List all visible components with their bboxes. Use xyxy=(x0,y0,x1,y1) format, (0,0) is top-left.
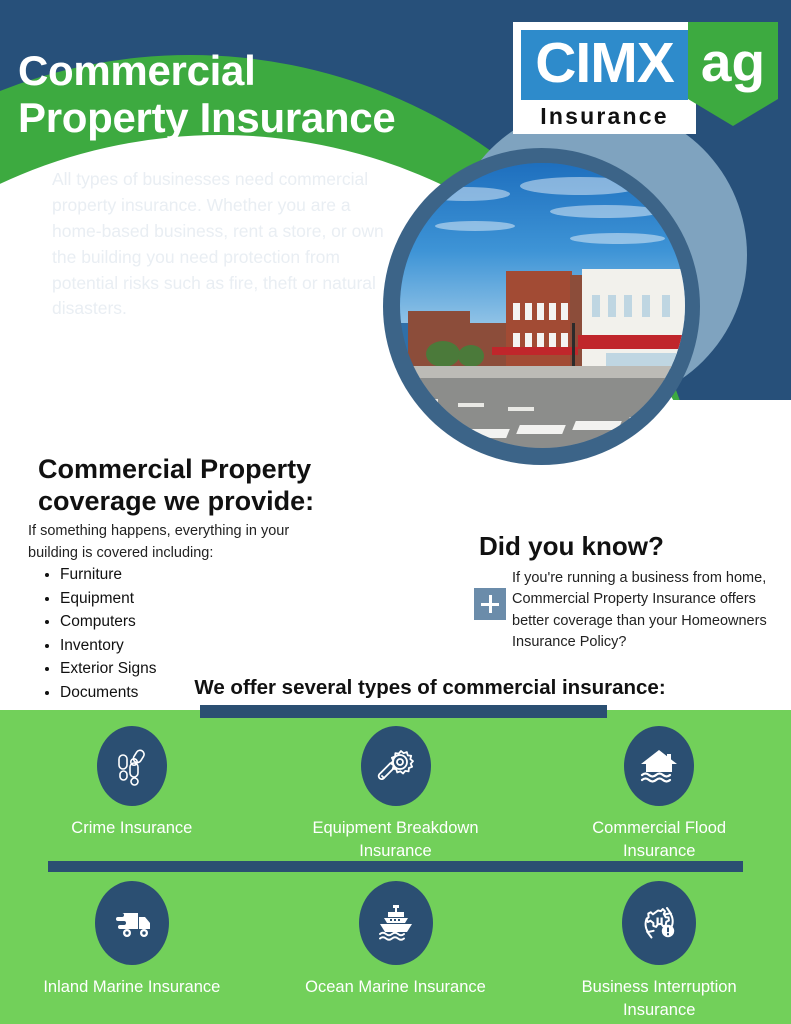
photo-cloud xyxy=(420,187,510,201)
photo-cloud xyxy=(550,205,660,218)
photo-crosswalk-stripe xyxy=(516,425,566,434)
photo-crosswalk-stripe xyxy=(460,429,510,438)
insurance-type-equipment-breakdown[interactable]: Equipment Breakdown Insurance xyxy=(264,726,528,863)
page-title: Commercial Property Insurance xyxy=(18,47,518,141)
photo-window xyxy=(537,303,544,320)
list-item: Inventory xyxy=(60,634,370,658)
insurance-type-label: Equipment Breakdown Insurance xyxy=(296,817,496,863)
photo-window xyxy=(592,295,600,317)
photo-window xyxy=(525,303,532,320)
page-title-line2: Property Insurance xyxy=(18,94,518,141)
delivery-truck-icon xyxy=(95,881,169,965)
gear-pause-alert-icon xyxy=(622,881,696,965)
insurance-type-label: Ocean Marine Insurance xyxy=(296,976,496,999)
insurance-types-row-1: Crime Insurance Equipment Breakdown Insu… xyxy=(0,726,791,863)
photo-lamppost xyxy=(572,323,575,371)
coverage-heading: Commercial Property coverage we provide: xyxy=(38,453,418,518)
photo-cloud xyxy=(520,177,640,195)
list-item: Equipment xyxy=(60,587,370,611)
photo-window xyxy=(561,303,568,320)
photo-window xyxy=(549,303,556,320)
photo-crosswalk-stripe xyxy=(572,421,622,430)
photo-tree xyxy=(426,341,460,367)
photo-lane-marking xyxy=(508,407,534,411)
insurance-type-business-interruption[interactable]: Business Interruption Insurance xyxy=(527,881,791,1022)
insurance-type-label: Inland Marine Insurance xyxy=(32,976,232,999)
insurance-type-label: Crime Insurance xyxy=(32,817,232,840)
photo-window xyxy=(642,295,650,317)
photo-lane-marking xyxy=(412,399,438,403)
photo-cloud xyxy=(435,221,515,231)
list-item: Furniture xyxy=(60,563,370,587)
insurance-type-label: Commercial Flood Insurance xyxy=(559,817,759,863)
photo-lane-marking xyxy=(458,403,484,407)
infographic-poster: Commercial Property Insurance All types … xyxy=(0,0,791,1024)
plus-icon xyxy=(474,588,506,620)
photo-road xyxy=(400,378,685,448)
flooded-house-icon xyxy=(624,726,694,806)
logo-wordmark: CIMX xyxy=(521,26,688,100)
photo-cloud xyxy=(570,233,665,244)
footprints-icon xyxy=(97,726,167,806)
photo-window xyxy=(513,303,520,320)
insurance-type-crime[interactable]: Crime Insurance xyxy=(0,726,264,863)
photo-tree xyxy=(458,345,484,367)
storefront-photo xyxy=(400,163,685,448)
photo-crosswalk-stripe xyxy=(626,417,676,426)
insurance-type-ocean-marine[interactable]: Ocean Marine Insurance xyxy=(264,881,528,1022)
page-title-line1: Commercial xyxy=(18,47,518,94)
coverage-heading-line2: coverage we provide: xyxy=(38,485,418,517)
photo-awning xyxy=(492,347,578,355)
photo-window xyxy=(624,295,632,317)
offer-heading: We offer several types of commercial ins… xyxy=(170,676,690,700)
coverage-heading-line1: Commercial Property xyxy=(38,453,418,485)
did-you-know-heading: Did you know? xyxy=(479,531,664,562)
wrench-gear-icon xyxy=(361,726,431,806)
did-you-know-body: If you're running a business from home, … xyxy=(512,568,774,654)
photo-awning xyxy=(578,335,685,349)
insurance-type-label: Business Interruption Insurance xyxy=(559,976,759,1022)
logo-subtitle: Insurance xyxy=(521,102,688,130)
cargo-ship-icon xyxy=(359,881,433,965)
brand-logo[interactable]: CIMX ag Insurance xyxy=(513,22,778,134)
insurance-type-inland-marine[interactable]: Inland Marine Insurance xyxy=(0,881,264,1022)
logo-shield-text: ag xyxy=(688,24,778,100)
intro-paragraph: All types of businesses need commercial … xyxy=(52,167,392,322)
photo-window xyxy=(608,295,616,317)
photo-window xyxy=(662,295,670,317)
offer-heading-underline xyxy=(200,705,607,718)
list-item: Computers xyxy=(60,610,370,634)
insurance-types-row-2: Inland Marine Insurance xyxy=(0,881,791,1022)
insurance-type-commercial-flood[interactable]: Commercial Flood Insurance xyxy=(527,726,791,863)
coverage-subtitle: If something happens, everything in your… xyxy=(28,521,338,565)
